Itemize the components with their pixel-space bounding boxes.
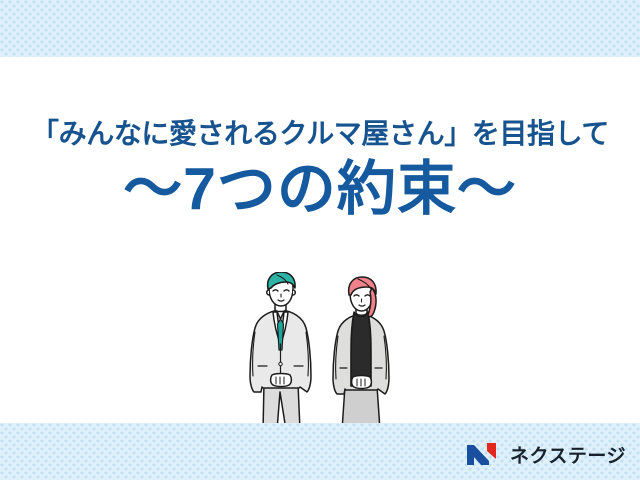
male-staff-figure xyxy=(250,272,311,430)
promo-banner: 「みんなに愛されるクルマ屋さん」を目指して 〜7つの約束〜 xyxy=(0,0,640,480)
brand-logo: ネクステージ xyxy=(465,437,626,471)
female-staff-figure xyxy=(333,277,389,430)
headline-block: 「みんなに愛されるクルマ屋さん」を目指して 〜7つの約束〜 xyxy=(0,118,640,221)
top-dot-band xyxy=(0,0,640,57)
staff-illustration xyxy=(236,272,426,432)
subtitle: 〜7つの約束〜 xyxy=(0,158,640,221)
nextage-n-mark-icon xyxy=(465,440,503,468)
page-title: 「みんなに愛されるクルマ屋さん」を目指して xyxy=(0,118,640,149)
brand-name: ネクステージ xyxy=(510,441,626,468)
